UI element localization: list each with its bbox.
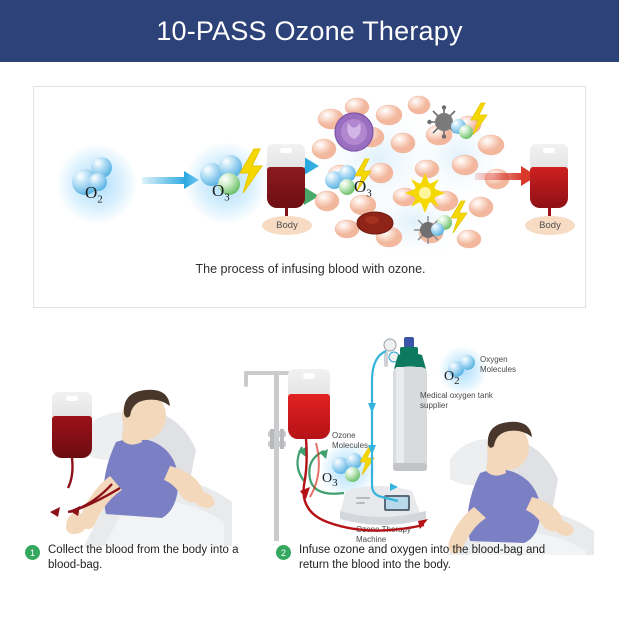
white-blood-cell-icon — [333, 111, 375, 153]
body-label-right: Body — [525, 216, 575, 235]
panel-caption: The process of infusing blood with ozone… — [34, 262, 587, 276]
lightning-bolt-icon-2 — [469, 103, 489, 135]
blood-bag-left-tube — [285, 207, 288, 216]
lightning-bolt-icon — [237, 149, 265, 193]
pathogen-icon-yellow — [405, 173, 445, 213]
page-title: 10-PASS Ozone Therapy — [156, 16, 462, 47]
blood-bag-left — [267, 144, 305, 208]
body-label-left: Body — [262, 216, 312, 235]
blood-bag-right-tube — [548, 207, 551, 216]
step-1-badge: 1 — [25, 545, 40, 560]
blood-bag-right-fluid — [530, 167, 568, 208]
blood-bag-right-port — [543, 148, 554, 153]
lightning-bolt-icon-3 — [449, 201, 469, 233]
ozone-cluster-formula-label: O3 — [354, 177, 372, 199]
tubing-scene2 — [240, 325, 610, 550]
blood-bag-left-port — [280, 148, 291, 153]
step-1-row: 1 Collect the blood from the body into a… — [25, 543, 255, 573]
ozone-sphere-virus2-b — [431, 223, 444, 236]
step-2-badge: 2 — [276, 545, 291, 560]
scene-infuse-ozone: O3 Ozone Molecules O2 Oxygen Molecules M… — [240, 325, 610, 550]
arrow-o2-to-o3-shaft — [142, 177, 186, 184]
blood-bag-right — [530, 144, 568, 208]
step-2-text: Infuse ozone and oxygen into the blood-b… — [299, 543, 566, 573]
ozone-formula-label: O3 — [212, 181, 230, 203]
scene-collect-blood: 1 Collect the blood from the body into a… — [20, 380, 270, 550]
blood-tubing-scene1 — [20, 380, 270, 550]
step-2-row: 2 Infuse ozone and oxygen into the blood… — [276, 543, 566, 573]
step-1-text: Collect the blood from the body into a b… — [48, 543, 255, 573]
arrow-red-shaft — [475, 173, 523, 180]
infographic-root: 10-PASS Ozone Therapy O2 O3 — [0, 0, 619, 619]
oxygen-formula-label: O2 — [85, 183, 103, 205]
page-header: 10-PASS Ozone Therapy — [0, 0, 619, 62]
blood-bag-left-fluid — [267, 167, 305, 208]
process-diagram-panel: O2 O3 Body — [33, 86, 586, 308]
